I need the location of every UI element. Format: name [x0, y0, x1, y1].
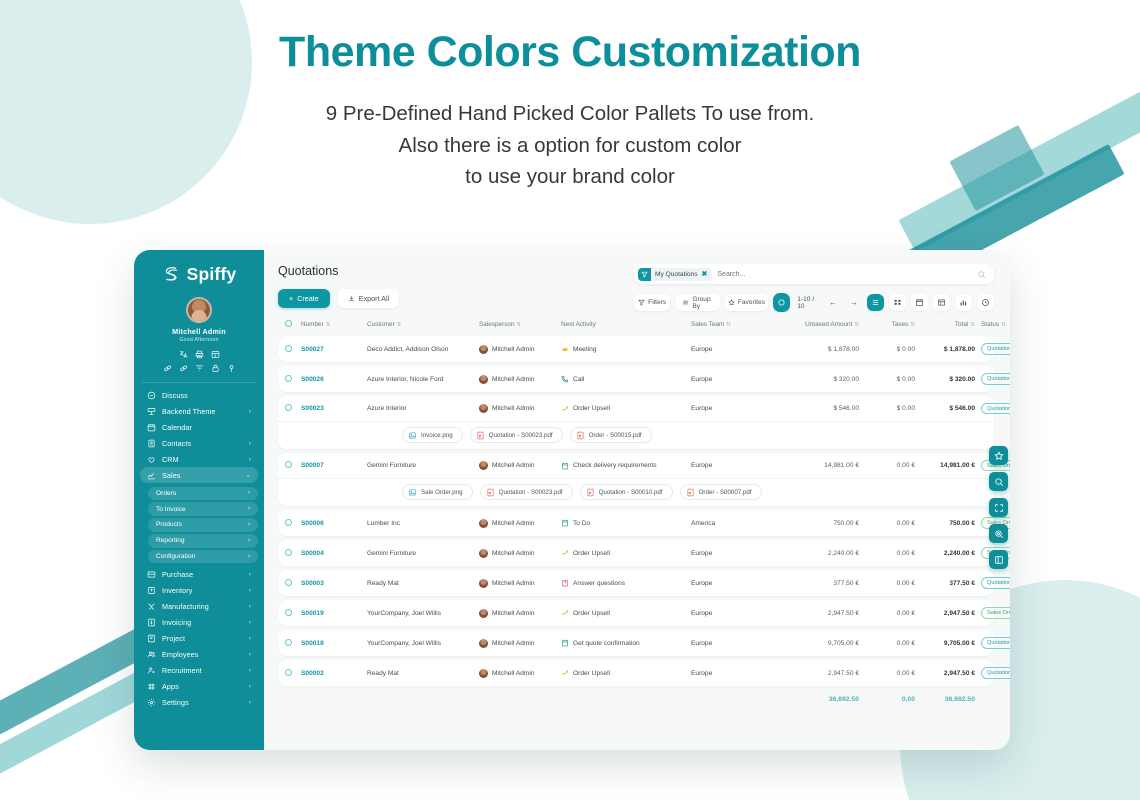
- call-icon: [561, 375, 569, 383]
- previous-page-button[interactable]: ←: [825, 298, 841, 307]
- row-next-activity: Order Upsell: [561, 669, 691, 677]
- row-number[interactable]: S00004: [301, 550, 367, 557]
- submenu-item-label: Orders: [156, 490, 248, 497]
- table-row[interactable]: S00019YourCompany, Joel WillisMitchell A…: [278, 600, 994, 626]
- create-button[interactable]: + Create: [278, 289, 330, 308]
- row-select-radio[interactable]: [285, 461, 301, 470]
- row-select-radio[interactable]: [285, 579, 301, 588]
- row-salesperson: Mitchell Admin: [479, 549, 561, 558]
- chevron-right-icon: ›: [248, 538, 250, 544]
- row-number[interactable]: S00002: [301, 670, 367, 677]
- table-row[interactable]: S00018YourCompany, Joel WillisMitchell A…: [278, 630, 994, 656]
- attachment-chip[interactable]: Quotation - S00023.pdf: [470, 427, 563, 443]
- row-number[interactable]: S00019: [301, 610, 367, 617]
- attachment-chip[interactable]: Sale Order.png: [402, 484, 473, 500]
- row-next-activity: Call: [561, 375, 691, 383]
- row-next-activity: Order Upsell: [561, 609, 691, 617]
- row-total: 377.50 €: [915, 580, 975, 587]
- upsell-icon: [561, 549, 569, 557]
- submenu-item-label: Configuration: [156, 553, 248, 560]
- hero-subtitle-line-2: Also there is a option for custom color: [0, 130, 1140, 162]
- row-select-radio[interactable]: [285, 669, 301, 678]
- sidebar-item-project[interactable]: Project ›: [140, 631, 258, 647]
- row-select-radio[interactable]: [285, 404, 301, 413]
- row-customer: YourCompany, Joel Willis: [367, 640, 479, 647]
- row-next-activity: Order Upsell: [561, 405, 691, 413]
- sales-chart-icon: [147, 471, 156, 480]
- status-badge: Quotation: [981, 667, 1010, 678]
- create-button-label: Create: [297, 294, 319, 303]
- submenu-item-to-invoice[interactable]: To Invoice ›: [148, 502, 258, 515]
- attachment-chip[interactable]: Quotation - S00023.pdf: [480, 484, 573, 500]
- row-salesperson: Mitchell Admin: [479, 375, 561, 384]
- chevron-right-icon: ›: [249, 571, 251, 578]
- sidebar-item-label: Calendar: [162, 423, 251, 432]
- row-salesperson: Mitchell Admin: [479, 345, 561, 354]
- row-sales-team: Europe: [691, 550, 771, 557]
- submenu-item-orders[interactable]: Orders ›: [148, 487, 258, 500]
- row-sales-team: Europe: [691, 376, 771, 383]
- table-header-row: Number⇅ Customer⇅ Salesperson⇅ Next Acti…: [278, 320, 994, 336]
- brand[interactable]: Spiffy: [134, 262, 264, 293]
- image-file-icon: [408, 488, 417, 497]
- chevron-right-icon: ›: [249, 699, 251, 706]
- row-salesperson: Mitchell Admin: [479, 579, 561, 588]
- row-salesperson: Mitchell Admin: [479, 609, 561, 618]
- row-customer: YourCompany, Joel Willis: [367, 610, 479, 617]
- sidebar-divider: [142, 382, 256, 383]
- row-untaxed-amount: 9,705.00 €: [771, 640, 859, 647]
- sidebar-item-discuss[interactable]: Discuss: [140, 387, 258, 403]
- attachment-chip[interactable]: Order - S00007.pdf: [680, 484, 762, 500]
- sidebar-item-contacts[interactable]: Contacts ›: [140, 435, 258, 451]
- row-status: Quotation: [975, 373, 1010, 384]
- sidebar-item-label: Manufacturing: [162, 602, 243, 611]
- row-customer: Deco Addict, Addison Olson: [367, 346, 479, 353]
- export-all-button[interactable]: Export All: [338, 289, 399, 308]
- row-status: Quotation: [975, 577, 1010, 588]
- avatar: [479, 669, 488, 678]
- pivot-view-button[interactable]: [933, 294, 950, 311]
- todo-icon: [561, 519, 569, 527]
- row-untaxed-amount: 2,947.50 €: [771, 610, 859, 617]
- view-title: Quotations: [278, 264, 399, 278]
- row-total: 2,947.50 €: [915, 610, 975, 617]
- chevron-right-icon: ›: [249, 440, 251, 447]
- row-taxes: 0.00 €: [859, 670, 915, 677]
- row-total: $ 546.00: [915, 405, 975, 412]
- table-row[interactable]: S00004Gemini FurnitureMitchell AdminOrde…: [278, 540, 994, 566]
- avatar: [479, 404, 488, 413]
- pdf-file-icon: [686, 488, 695, 497]
- row-untaxed-amount: 377.50 €: [771, 580, 859, 587]
- row-status: Quotation Sent: [975, 637, 1010, 648]
- status-badge: Quotation Sent: [981, 637, 1010, 648]
- row-customer: Gemini Furniture: [367, 462, 479, 469]
- graph-view-button[interactable]: [955, 294, 972, 311]
- row-taxes: 0.00 €: [859, 520, 915, 527]
- column-header-salesperson[interactable]: Salesperson⇅: [479, 321, 561, 328]
- row-number[interactable]: S00018: [301, 640, 367, 647]
- row-sales-team: Europe: [691, 670, 771, 677]
- calendar-view-button[interactable]: [911, 294, 928, 311]
- total-taxes: 0.00: [859, 696, 915, 703]
- spiffy-logo-icon: [162, 264, 183, 285]
- crm-heart-icon: [147, 455, 156, 464]
- sidebar-item-sales[interactable]: Sales ⌄: [140, 467, 258, 483]
- purchase-icon: [147, 570, 156, 579]
- row-status: Quotation: [975, 403, 1010, 414]
- total-untaxed: 36,692.50: [771, 696, 859, 703]
- select-all-checkbox[interactable]: [285, 320, 301, 329]
- pdf-file-icon: [476, 431, 485, 440]
- attachment-row: Sale Order.pngQuotation - S00023.pdfQuot…: [278, 479, 994, 506]
- link-badge-icon[interactable]: [163, 364, 172, 373]
- avatar: [479, 519, 488, 528]
- sidebar-item-purchase[interactable]: Purchase ›: [140, 567, 258, 583]
- fullscreen-icon[interactable]: [989, 498, 1008, 517]
- row-untaxed-amount: 2,947.50 €: [771, 670, 859, 677]
- activity-view-button[interactable]: [977, 294, 994, 311]
- list-lines-icon: [682, 299, 689, 306]
- avatar: [479, 549, 488, 558]
- main-content: Quotations + Create Export All: [264, 250, 1010, 750]
- brand-name: Spiffy: [187, 264, 237, 285]
- status-badge: Quotation: [981, 373, 1010, 384]
- zoom-icon[interactable]: [989, 524, 1008, 543]
- row-salesperson: Mitchell Admin: [479, 519, 561, 528]
- sidebar-item-recruitment[interactable]: Recruitment ›: [140, 663, 258, 679]
- upsell-icon: [561, 405, 569, 413]
- chevron-right-icon: ›: [248, 490, 250, 496]
- status-badge: Quotation: [981, 403, 1010, 414]
- row-total: 750.00 €: [915, 520, 975, 527]
- row-untaxed-amount: 750.00 €: [771, 520, 859, 527]
- translate-icon[interactable]: [179, 350, 188, 359]
- row-total: 9,705.00 €: [915, 640, 975, 647]
- sidebar-item-label: Invoicing: [162, 618, 243, 627]
- kanban-view-button[interactable]: [889, 294, 906, 311]
- row-total: $ 320.00: [915, 376, 975, 383]
- quotations-table: Number⇅ Customer⇅ Salesperson⇅ Next Acti…: [264, 312, 1010, 750]
- row-total: $ 1,878.00: [915, 346, 975, 353]
- row-taxes: $ 0.00: [859, 376, 915, 383]
- todo-icon: [561, 462, 569, 470]
- sidebar-item-label: Backend Theme: [162, 407, 243, 416]
- group-by-label: Group By: [692, 296, 712, 310]
- link-badge-2-icon[interactable]: [179, 364, 188, 373]
- meeting-icon: [561, 345, 569, 353]
- app-window: Spiffy Mitchell Admin Good Afternoon: [134, 250, 1010, 750]
- attachment-chip[interactable]: Invoice.png: [402, 427, 463, 443]
- page-title: Theme Colors Customization: [0, 26, 1140, 80]
- upsell-icon: [561, 609, 569, 617]
- sidebar-item-label: Recruitment: [162, 666, 243, 675]
- row-taxes: $ 0.00: [859, 346, 915, 353]
- hero-subtitle-line-3: to use your brand color: [0, 161, 1140, 193]
- row-total: 2,947.50 €: [915, 670, 975, 677]
- row-customer: Azure Interior, Nicole Ford: [367, 376, 479, 383]
- chevron-right-icon: ›: [249, 587, 251, 594]
- chevron-right-icon: ›: [249, 408, 251, 415]
- employees-icon: [147, 650, 156, 659]
- row-customer: Azure Interior: [367, 405, 479, 412]
- sidebar-item-label: Purchase: [162, 570, 243, 579]
- row-customer: Gemini Furniture: [367, 550, 479, 557]
- row-customer: Ready Mat: [367, 670, 479, 677]
- row-select-radio[interactable]: [285, 375, 301, 384]
- row-salesperson: Mitchell Admin: [479, 639, 561, 648]
- sidebar-item-apps[interactable]: Apps ›: [140, 679, 258, 695]
- row-taxes: 0.00 €: [859, 550, 915, 557]
- list-view-button[interactable]: [867, 294, 884, 311]
- question-icon: [561, 579, 569, 587]
- row-customer: Lumber Inc: [367, 520, 479, 527]
- main-header: Quotations + Create Export All: [264, 250, 1010, 312]
- sidebar-item-invoicing[interactable]: Invoicing ›: [140, 615, 258, 631]
- todo-icon: [561, 639, 569, 647]
- chevron-right-icon: ›: [249, 635, 251, 642]
- row-total: 2,240.00 €: [915, 550, 975, 557]
- star-icon: [728, 299, 735, 306]
- row-select-radio[interactable]: [285, 549, 301, 558]
- favorites-button[interactable]: Favorites: [725, 294, 769, 311]
- row-number[interactable]: S00007: [301, 462, 367, 469]
- row-taxes: 0.00 €: [859, 610, 915, 617]
- close-icon[interactable]: ✖: [702, 270, 708, 278]
- row-number[interactable]: S00026: [301, 376, 367, 383]
- sidebar-item-label: Discuss: [162, 391, 251, 400]
- row-number[interactable]: S00023: [301, 405, 367, 412]
- chevron-right-icon: ›: [248, 554, 250, 560]
- row-sales-team: Europe: [691, 640, 771, 647]
- table-row[interactable]: S00007Gemini FurnitureMitchell AdminChec…: [278, 453, 994, 479]
- refresh-button[interactable]: [773, 293, 790, 312]
- submenu-item-label: Reporting: [156, 537, 248, 544]
- row-untaxed-amount: 2,240.00 €: [771, 550, 859, 557]
- chevron-right-icon: ›: [249, 683, 251, 690]
- avatar: [479, 375, 488, 384]
- print-icon[interactable]: [195, 350, 204, 359]
- pdf-file-icon: [576, 431, 585, 440]
- sidebar-item-label: Inventory: [162, 586, 243, 595]
- row-customer: Ready Mat: [367, 580, 479, 587]
- inventory-icon: [147, 586, 156, 595]
- pdf-file-icon: [486, 488, 495, 497]
- row-sales-team: Europe: [691, 610, 771, 617]
- chevron-right-icon: ›: [248, 522, 250, 528]
- floating-action-rail: [989, 446, 1008, 569]
- hero-subtitle-line-1: 9 Pre-Defined Hand Picked Color Pallets …: [0, 98, 1140, 130]
- totals-row: 36,692.50 0.00 36,692.50: [278, 690, 994, 703]
- row-untaxed-amount: $ 546.00: [771, 405, 859, 412]
- row-select-radio[interactable]: [285, 519, 301, 528]
- row-select-radio[interactable]: [285, 345, 301, 354]
- row-sales-team: America: [691, 520, 771, 527]
- row-total: 14,981.00 €: [915, 462, 975, 469]
- chevron-right-icon: ›: [249, 603, 251, 610]
- manufacturing-icon: [147, 602, 156, 611]
- total-total: 36,692.50: [915, 696, 975, 703]
- row-sales-team: Europe: [691, 405, 771, 412]
- filter-icon: [638, 299, 645, 306]
- sidebar-item-label: CRM: [162, 455, 243, 464]
- calendar-icon: [147, 423, 156, 432]
- filters-button[interactable]: Filters: [634, 294, 670, 311]
- user-avatar-wrap[interactable]: [134, 297, 264, 323]
- attachment-row: Invoice.pngQuotation - S00023.pdfOrder -…: [278, 422, 994, 449]
- settings-gear-icon: [147, 698, 156, 707]
- pin-icon[interactable]: [227, 364, 236, 373]
- attachment-chip[interactable]: Order - S00015.pdf: [570, 427, 652, 443]
- attachment-chip[interactable]: Quotation - S00010.pdf: [580, 484, 673, 500]
- row-sales-team: Europe: [691, 580, 771, 587]
- chat-icon: [147, 391, 156, 400]
- status-badge: Quotation: [981, 577, 1010, 588]
- recruitment-icon: [147, 666, 156, 675]
- row-salesperson: Mitchell Admin: [479, 404, 561, 413]
- sidebar-item-label: Project: [162, 634, 243, 643]
- row-taxes: 0.00 €: [859, 580, 915, 587]
- search-icon[interactable]: [977, 270, 986, 279]
- upsell-icon: [561, 669, 569, 677]
- row-next-activity: To Do: [561, 519, 691, 527]
- search-icon[interactable]: [989, 472, 1008, 491]
- row-taxes: 0.00 €: [859, 462, 915, 469]
- row-next-activity: Get quote confirmation: [561, 639, 691, 647]
- sidebar-item-employees[interactable]: Employees ›: [140, 647, 258, 663]
- table-row[interactable]: S00006Lumber IncMitchell AdminTo DoAmeri…: [278, 510, 994, 536]
- facet-label-text: My Quotations: [655, 271, 698, 278]
- layout-icon[interactable]: [989, 550, 1008, 569]
- sidebar-item-label: Employees: [162, 650, 243, 659]
- row-untaxed-amount: 14,981.00 €: [771, 462, 859, 469]
- chevron-right-icon: ›: [249, 456, 251, 463]
- row-sales-team: Europe: [691, 346, 771, 353]
- filters-label: Filters: [648, 299, 666, 306]
- row-next-activity: Order Upsell: [561, 549, 691, 557]
- table-row[interactable]: S00002Ready MatMitchell AdminOrder Upsel…: [278, 660, 994, 686]
- sidebar-item-settings[interactable]: Settings ›: [140, 695, 258, 711]
- theme-icon: [147, 407, 156, 416]
- filter-icon[interactable]: [195, 364, 204, 373]
- table-row[interactable]: S00027Deco Addict, Addison OlsonMitchell…: [278, 336, 994, 362]
- row-next-activity: Answer questions: [561, 579, 691, 587]
- apps-icon: [147, 682, 156, 691]
- project-icon: [147, 634, 156, 643]
- column-header-next-activity[interactable]: Next Activity: [561, 321, 691, 328]
- avatar: [479, 609, 488, 618]
- contacts-icon: [147, 439, 156, 448]
- hero-section: Theme Colors Customization 9 Pre-Defined…: [0, 0, 1140, 193]
- table-row[interactable]: S00003Ready MatMitchell AdminAnswer ques…: [278, 570, 994, 596]
- group-by-button[interactable]: Group By: [675, 294, 719, 311]
- sidebar-item-calendar[interactable]: Calendar: [140, 419, 258, 435]
- row-status: Quotation: [975, 667, 1010, 678]
- star-icon[interactable]: [989, 446, 1008, 465]
- search-input[interactable]: [717, 271, 972, 278]
- submenu-item-products[interactable]: Products ›: [148, 518, 258, 531]
- row-select-radio[interactable]: [285, 639, 301, 648]
- sidebar-item-label: Settings: [162, 698, 243, 707]
- next-page-button[interactable]: →: [846, 298, 862, 307]
- column-header-customer[interactable]: Customer⇅: [367, 321, 479, 328]
- user-greeting: Good Afternoon: [134, 337, 264, 343]
- active-facet[interactable]: My Quotations ✖: [651, 268, 712, 281]
- chevron-right-icon: ›: [249, 667, 251, 674]
- chevron-right-icon: ›: [249, 651, 251, 658]
- sidebar-item-manufacturing[interactable]: Manufacturing ›: [140, 599, 258, 615]
- image-file-icon: [408, 431, 417, 440]
- submenu-item-label: Products: [156, 521, 248, 528]
- lock-icon[interactable]: [211, 364, 220, 373]
- row-status: Quotation: [975, 343, 1010, 354]
- row-next-activity: Meeting: [561, 345, 691, 353]
- quick-actions-row-1: [134, 350, 264, 359]
- row-select-radio[interactable]: [285, 609, 301, 618]
- status-badge: Sales Order: [981, 607, 1010, 618]
- column-header-status[interactable]: Status⇅: [975, 321, 1010, 328]
- submenu-item-reporting[interactable]: Reporting ›: [148, 534, 258, 547]
- row-taxes: 0.00 €: [859, 640, 915, 647]
- sidebar-item-label: Apps: [162, 682, 243, 691]
- download-icon: [348, 295, 355, 302]
- column-header-number[interactable]: Number⇅: [301, 321, 367, 328]
- row-number[interactable]: S00006: [301, 520, 367, 527]
- user-name: Mitchell Admin: [134, 327, 264, 336]
- action-buttons: + Create Export All: [278, 289, 399, 308]
- chevron-right-icon: ›: [249, 619, 251, 626]
- avatar[interactable]: [186, 297, 212, 323]
- avatar: [479, 579, 488, 588]
- row-next-activity: Check delivery requirements: [561, 462, 691, 470]
- apps-grid-icon[interactable]: [211, 350, 220, 359]
- submenu-item-label: To Invoice: [156, 506, 248, 513]
- table-row[interactable]: S00023Azure InteriorMitchell AdminOrder …: [278, 396, 994, 422]
- sidebar-item-backend-theme[interactable]: Backend Theme ›: [140, 403, 258, 419]
- sidebar: Spiffy Mitchell Admin Good Afternoon: [134, 250, 264, 750]
- avatar: [479, 345, 488, 354]
- row-salesperson: Mitchell Admin: [479, 461, 561, 470]
- invoicing-icon: [147, 618, 156, 627]
- sidebar-item-inventory[interactable]: Inventory ›: [140, 583, 258, 599]
- facet-filter-icon: [638, 268, 651, 281]
- row-salesperson: Mitchell Admin: [479, 669, 561, 678]
- avatar: [479, 461, 488, 470]
- column-header-untaxed-amount[interactable]: Untaxed Amount⇅: [771, 321, 859, 328]
- chevron-down-icon: ⌄: [245, 471, 251, 479]
- row-taxes: $ 0.00: [859, 405, 915, 412]
- table-row[interactable]: S00026Azure Interior, Nicole FordMitchel…: [278, 366, 994, 392]
- quick-actions-row-2: [134, 364, 264, 373]
- sidebar-item-label: Sales: [162, 471, 239, 480]
- search-bar[interactable]: My Quotations ✖: [634, 264, 994, 284]
- pager-label: 1-10 / 10: [795, 296, 820, 310]
- row-number[interactable]: S00027: [301, 346, 367, 353]
- column-header-taxes[interactable]: Taxes⇅: [859, 321, 915, 328]
- chevron-right-icon: ›: [248, 506, 250, 512]
- sidebar-menu: Discuss Backend Theme › Calendar Contact…: [134, 387, 264, 750]
- row-sales-team: Europe: [691, 462, 771, 469]
- sales-submenu: Orders › To Invoice › Products › Reporti…: [140, 483, 258, 567]
- favorites-label: Favorites: [738, 299, 765, 306]
- column-header-total[interactable]: Total⇅: [915, 321, 975, 328]
- column-header-sales-team[interactable]: Sales Team⇅: [691, 321, 771, 328]
- avatar: [479, 639, 488, 648]
- sidebar-item-crm[interactable]: CRM ›: [140, 451, 258, 467]
- submenu-item-configuration[interactable]: Configuration ›: [148, 550, 258, 563]
- row-number[interactable]: S00003: [301, 580, 367, 587]
